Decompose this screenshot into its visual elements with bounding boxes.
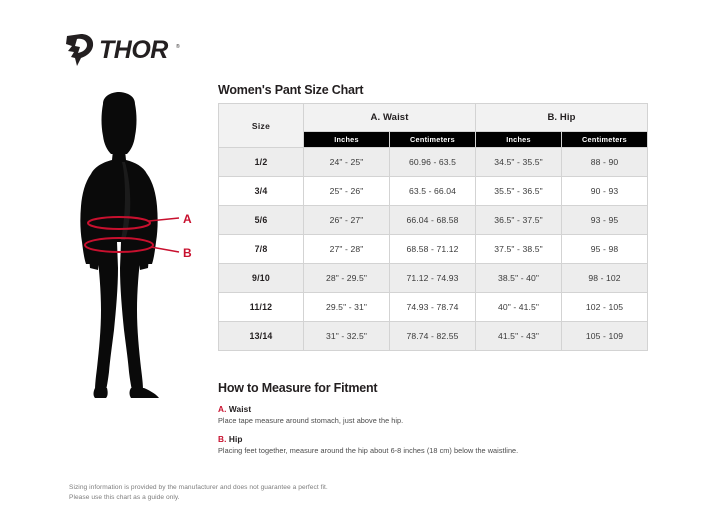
cell-waist-inches: 31" - 32.5" <box>304 322 390 351</box>
table-row: 5/626" - 27"66.04 - 68.5836.5" - 37.5"93… <box>219 206 648 235</box>
table-row: 11/1229.5" - 31"74.93 - 78.7440" - 41.5"… <box>219 293 648 322</box>
cell-size: 9/10 <box>219 264 304 293</box>
table-row: 13/1431" - 32.5"78.74 - 82.5541.5" - 43"… <box>219 322 648 351</box>
how-to-measure-title: How to Measure for Fitment <box>218 381 658 395</box>
cell-hip-inches: 34.5" - 35.5" <box>476 148 562 177</box>
measure-item-hip-letter: B. <box>218 434 227 444</box>
waist-marker-label: A <box>183 212 192 226</box>
cell-waist-inches: 24" - 25" <box>304 148 390 177</box>
cell-size: 11/12 <box>219 293 304 322</box>
cell-waist-centimeters: 60.96 - 63.5 <box>390 148 476 177</box>
cell-waist-centimeters: 78.74 - 82.55 <box>390 322 476 351</box>
cell-size: 5/6 <box>219 206 304 235</box>
page-title: Women's Pant Size Chart <box>218 83 363 97</box>
disclaimer-text: Sizing information is provided by the ma… <box>69 483 328 503</box>
cell-waist-centimeters: 63.5 - 66.04 <box>390 177 476 206</box>
thor-helmet-icon: THOR ® <box>63 32 181 68</box>
column-header-size: Size <box>219 104 304 148</box>
cell-waist-inches: 29.5" - 31" <box>304 293 390 322</box>
cell-waist-centimeters: 66.04 - 68.58 <box>390 206 476 235</box>
disclaimer-line-2: Please use this chart as a guide only. <box>69 493 328 503</box>
cell-hip-inches: 36.5" - 37.5" <box>476 206 562 235</box>
hip-leader-line <box>151 247 179 252</box>
cell-waist-inches: 27" - 28" <box>304 235 390 264</box>
table-row: 7/827" - 28"68.58 - 71.1237.5" - 38.5"95… <box>219 235 648 264</box>
measurement-illustration: A B <box>55 92 215 402</box>
cell-size: 3/4 <box>219 177 304 206</box>
thor-brand-logo: THOR ® <box>63 32 181 68</box>
hip-marker-label: B <box>183 246 192 260</box>
column-group-header-hip: B. Hip <box>476 104 648 132</box>
svg-text:THOR: THOR <box>99 36 168 64</box>
cell-hip-centimeters: 95 - 98 <box>562 235 648 264</box>
cell-waist-centimeters: 68.58 - 71.12 <box>390 235 476 264</box>
cell-hip-centimeters: 90 - 93 <box>562 177 648 206</box>
table-row: 9/1028" - 29.5"71.12 - 74.9338.5" - 40"9… <box>219 264 648 293</box>
female-silhouette-icon <box>80 92 159 398</box>
cell-hip-centimeters: 105 - 109 <box>562 322 648 351</box>
measure-item-waist: A. Waist Place tape measure around stoma… <box>218 404 658 425</box>
cell-hip-inches: 37.5" - 38.5" <box>476 235 562 264</box>
cell-hip-inches: 35.5" - 36.5" <box>476 177 562 206</box>
size-chart-table: Size A. Waist B. Hip Inches Centimeters … <box>218 103 648 351</box>
measure-item-hip-description: Placing feet together, measure around th… <box>218 446 658 455</box>
column-header-hip-inches: Inches <box>476 132 562 148</box>
table-group-header-row: Size A. Waist B. Hip <box>219 104 648 132</box>
column-header-hip-centimeters: Centimeters <box>562 132 648 148</box>
cell-size: 13/14 <box>219 322 304 351</box>
measure-item-waist-heading: A. Waist <box>218 404 658 414</box>
measure-item-waist-letter: A. <box>218 404 227 414</box>
cell-waist-centimeters: 74.93 - 78.74 <box>390 293 476 322</box>
table-row: 3/425" - 26"63.5 - 66.0435.5" - 36.5"90 … <box>219 177 648 206</box>
cell-waist-centimeters: 71.12 - 74.93 <box>390 264 476 293</box>
cell-hip-inches: 38.5" - 40" <box>476 264 562 293</box>
disclaimer-line-1: Sizing information is provided by the ma… <box>69 483 328 493</box>
measure-item-hip: B. Hip Placing feet together, measure ar… <box>218 434 658 455</box>
how-to-measure-section: How to Measure for Fitment A. Waist Plac… <box>218 381 658 464</box>
table-row: 1/224" - 25"60.96 - 63.534.5" - 35.5"88 … <box>219 148 648 177</box>
svg-text:®: ® <box>176 43 180 50</box>
cell-hip-centimeters: 98 - 102 <box>562 264 648 293</box>
cell-hip-inches: 41.5" - 43" <box>476 322 562 351</box>
measure-item-waist-name: Waist <box>229 404 251 414</box>
column-header-waist-centimeters: Centimeters <box>390 132 476 148</box>
column-header-waist-inches: Inches <box>304 132 390 148</box>
size-chart-table-wrapper: Size A. Waist B. Hip Inches Centimeters … <box>218 103 648 351</box>
cell-size: 1/2 <box>219 148 304 177</box>
cell-hip-inches: 40" - 41.5" <box>476 293 562 322</box>
cell-waist-inches: 28" - 29.5" <box>304 264 390 293</box>
measure-item-hip-heading: B. Hip <box>218 434 658 444</box>
column-group-header-waist: A. Waist <box>304 104 476 132</box>
cell-size: 7/8 <box>219 235 304 264</box>
cell-hip-centimeters: 93 - 95 <box>562 206 648 235</box>
cell-hip-centimeters: 102 - 105 <box>562 293 648 322</box>
cell-hip-centimeters: 88 - 90 <box>562 148 648 177</box>
measure-item-waist-description: Place tape measure around stomach, just … <box>218 416 658 425</box>
cell-waist-inches: 25" - 26" <box>304 177 390 206</box>
measure-item-hip-name: Hip <box>229 434 243 444</box>
cell-waist-inches: 26" - 27" <box>304 206 390 235</box>
